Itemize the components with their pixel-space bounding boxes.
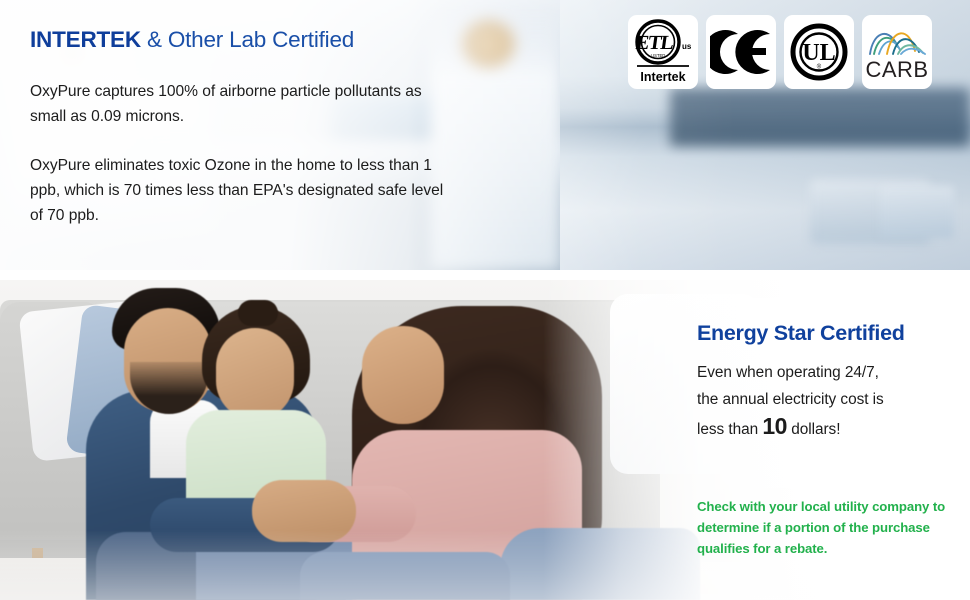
energy-line-3-prefix: less than: [697, 421, 762, 438]
svg-text:us: us: [682, 42, 692, 51]
energy-paragraph: Even when operating 24/7, the annual ele…: [697, 359, 959, 443]
etl-intertek-badge: ETL LISTED us Intertek: [628, 15, 698, 89]
certification-badge-strip: ETL LISTED us Intertek: [628, 15, 932, 89]
lab-headline-brand: INTERTEK: [30, 27, 141, 52]
svg-text:LISTED: LISTED: [651, 53, 666, 58]
energy-star-panel: Energy Star Certified Even when operatin…: [0, 280, 970, 600]
energy-headline: Energy Star Certified: [697, 322, 959, 346]
svg-text:ETL: ETL: [634, 32, 675, 54]
lab-headline-rest: & Other Lab Certified: [141, 27, 354, 52]
ul-mark-icon: UL ®: [789, 22, 849, 82]
energy-line-2: the annual electricity cost is: [697, 391, 884, 408]
lab-headline: INTERTEK & Other Lab Certified: [30, 28, 460, 53]
svg-text:CARB: CARB: [865, 57, 928, 82]
promo-banner: INTERTEK & Other Lab Certified OxyPure c…: [0, 0, 970, 600]
lab-copy-block: INTERTEK & Other Lab Certified OxyPure c…: [30, 28, 460, 228]
lab-certification-panel: INTERTEK & Other Lab Certified OxyPure c…: [0, 0, 970, 270]
ce-badge: [706, 15, 776, 89]
carb-arcs-icon: CARB: [865, 21, 929, 83]
etl-intertek-icon: ETL LISTED us Intertek: [631, 18, 695, 86]
ul-badge: UL ®: [784, 15, 854, 89]
carb-badge: CARB: [862, 15, 932, 89]
section-divider: [0, 270, 970, 280]
energy-line-1: Even when operating 24/7,: [697, 364, 879, 381]
lab-paragraph-2: OxyPure eliminates toxic Ozone in the ho…: [30, 153, 460, 228]
svg-text:Intertek: Intertek: [640, 70, 685, 84]
ce-mark-icon: [710, 29, 772, 75]
energy-copy-block: Energy Star Certified Even when operatin…: [697, 322, 959, 443]
energy-line-3-suffix: dollars!: [787, 421, 840, 438]
rebate-note: Check with your local utility company to…: [697, 496, 967, 559]
lab-paragraph-1: OxyPure captures 100% of airborne partic…: [30, 79, 460, 129]
energy-cost-value: 10: [762, 413, 787, 439]
svg-text:UL: UL: [802, 40, 835, 66]
svg-text:®: ®: [817, 64, 822, 71]
